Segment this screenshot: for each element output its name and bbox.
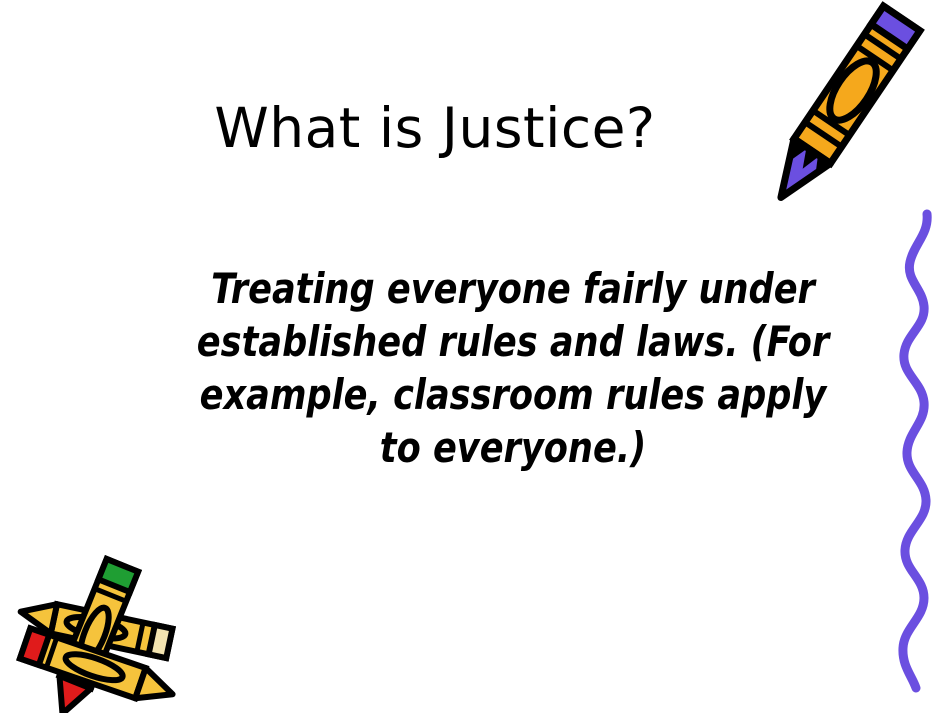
body-line: example, classroom rules apply [146, 368, 881, 421]
purple-wavy-line-icon [880, 200, 950, 700]
body-line: established rules and laws. (For [146, 315, 881, 368]
crayon-cluster-icon [0, 548, 215, 713]
slide-canvas: What is Justice? Treating everyone fairl… [0, 0, 950, 713]
page-title: What is Justice? [0, 98, 870, 159]
body-line: to everyone.) [146, 421, 881, 474]
body-text-block: Treating everyone fairly under establish… [146, 262, 881, 474]
body-line: Treating everyone fairly under [146, 262, 881, 315]
purple-crayon-icon [786, 0, 946, 224]
